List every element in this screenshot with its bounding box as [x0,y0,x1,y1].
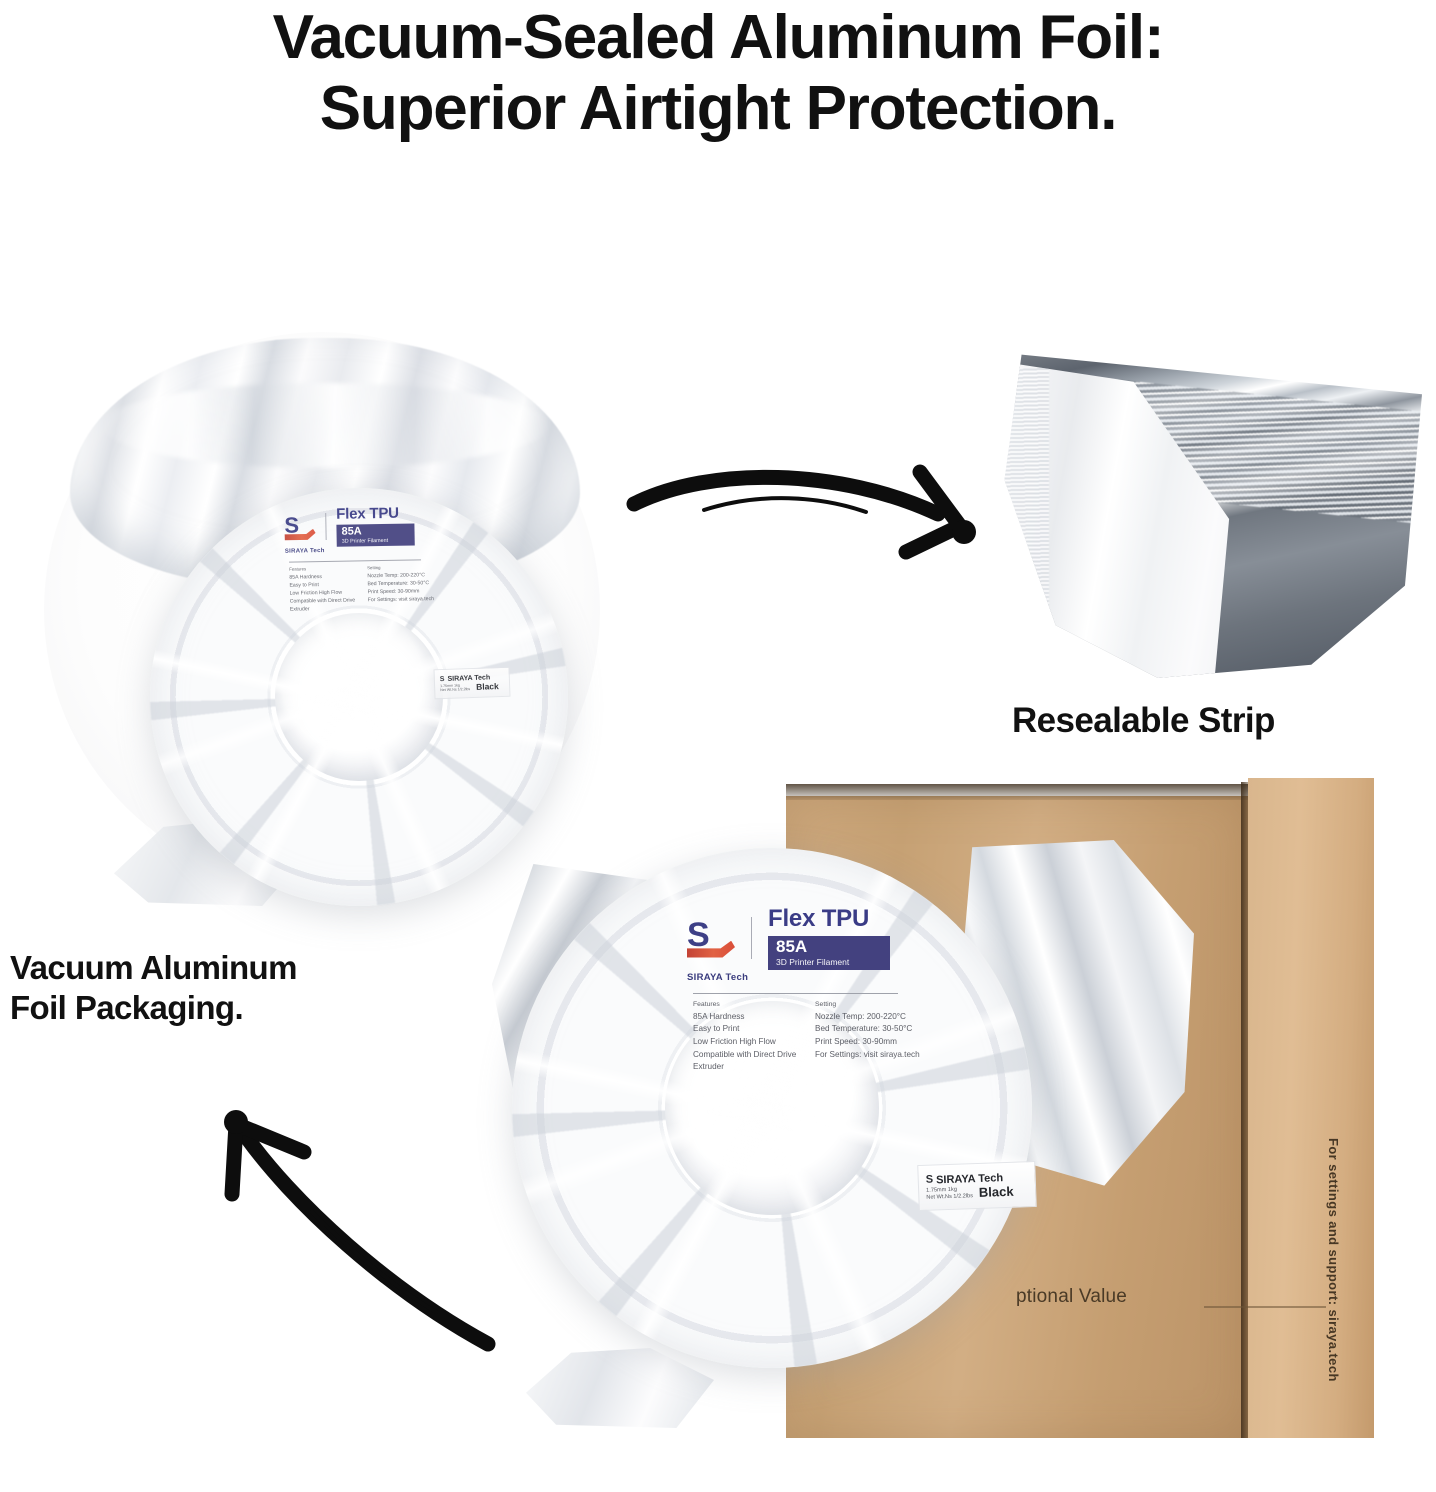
sku-spec-line-2: Net Wt.Ns 1/2.2lbs [926,1193,973,1201]
box-side-panel [1248,778,1374,1438]
page-title: Vacuum-Sealed Aluminum Foil: Superior Ai… [0,2,1436,145]
siraya-logo-icon: S [687,918,735,958]
curved-arrow-up-left-icon [196,1096,526,1364]
caption-line-1: Vacuum Aluminum [10,949,297,986]
grade-value: 85A [776,938,882,955]
caption-vacuum-packaging: Vacuum Aluminum Foil Packaging. [10,948,440,1029]
sku-spec: 1.75mm 1kg Net Wt.Ns 1/2.2lbs [440,683,470,693]
setting-item: Bed Temperature: 30-50°C [815,1023,920,1036]
curved-arrow-right-icon [620,440,1040,580]
setting-item: For Settings: visit siraya.tech [368,595,434,604]
settings-column: Setting Nozzle Temp: 200-220°C Bed Tempe… [815,1000,920,1074]
spool-hub [275,613,443,781]
settings-heading: Setting [815,1000,920,1011]
label-rule [289,559,421,562]
grade-badge: 85A 3D Printer Filament [768,936,890,970]
product-label-small: S Flex TPU 85A 3D Printer Filament SIRAY… [284,503,482,613]
setting-item: Nozzle Temp: 200-220°C [815,1011,920,1024]
label-header: S Flex TPU 85A 3D Printer Filament [687,905,997,970]
sku-sticker-large: S SIRAYA Tech 1.75mm 1kg Net Wt.Ns 1/2.2… [917,1161,1037,1211]
feature-item: 85A Hardness [693,1011,815,1024]
headline-line-1: Vacuum-Sealed Aluminum Foil: [0,2,1436,73]
features-column: Features 85A Hardness Easy to Print Low … [693,1000,815,1074]
siraya-logo-icon: S [926,1175,934,1186]
sku-color: Black [476,681,499,692]
sku-detail-row: 1.75mm 1kg Net Wt.Ns 1/2.2lbs Black [440,680,504,692]
sku-detail-row: 1.75mm 1kg Net Wt.Ns 1/2.2lbs Black [926,1183,1028,1202]
sku-spec: 1.75mm 1kg Net Wt.Ns 1/2.2lbs [926,1186,973,1202]
product-name: Flex TPU [768,905,890,933]
label-detail-columns: Features 85A Hardness Easy to Print Low … [285,563,482,613]
grade-value: 85A [341,525,409,537]
resealable-strip-photo [996,348,1422,678]
label-divider [325,513,326,540]
sku-spec-line-1: 1.75mm 1kg [926,1186,957,1193]
grade-subtitle: 3D Printer Filament [776,957,882,968]
sku-color: Black [979,1183,1014,1199]
grade-badge: 85A 3D Printer Filament [336,523,414,546]
feature-item: Easy to Print [693,1023,815,1036]
caption-line-2: Foil Packaging. [10,989,243,1026]
box-top-flap [786,784,1248,800]
box-vertical-text: For settings and support: siraya.tech [1326,1138,1341,1382]
label-divider [751,917,752,959]
setting-item: For Settings: visit siraya.tech [815,1049,920,1062]
infographic-page: Vacuum-Sealed Aluminum Foil: Superior Ai… [0,0,1436,1492]
product-label-large: S Flex TPU 85A 3D Printer Filament SIRAY… [687,905,997,1074]
features-heading: Features [693,1000,815,1011]
feature-item: Compatible with Direct Drive Extruder [290,596,368,613]
label-detail-columns: Features 85A Hardness Easy to Print Low … [687,1000,997,1074]
grade-subtitle: 3D Printer Filament [342,537,410,545]
label-product-block: Flex TPU 85A 3D Printer Filament [768,905,890,970]
sku-spec-line-2: Net Wt.Ns 1/2.2lbs [440,687,470,692]
sku-sticker-small: S SIRAYA Tech 1.75mm 1kg Net Wt.Ns 1/2.2… [433,667,510,700]
product-name: Flex TPU [336,504,414,522]
brand-name: SIRAYA Tech [687,972,997,983]
label-header: S Flex TPU 85A 3D Printer Filament [284,503,481,547]
feature-item: Compatible with Direct Drive Extruder [693,1049,815,1074]
feature-item: Low Friction High Flow [693,1036,815,1049]
setting-item: Print Speed: 30-90mm [815,1036,920,1049]
settings-column: Setting Nozzle Temp: 200-220°C Bed Tempe… [367,564,434,612]
siraya-logo-icon: S [284,514,315,541]
headline-line-2: Superior Airtight Protection. [0,73,1436,144]
caption-resealable-strip: Resealable Strip [1012,700,1432,743]
box-tagline-rule [1204,1306,1326,1308]
features-column: Features 85A Hardness Easy to Print Low … [289,565,368,613]
label-rule [693,993,898,994]
foil-flap-bottom [526,1348,714,1428]
label-product-block: Flex TPU 85A 3D Printer Filament [336,504,415,546]
